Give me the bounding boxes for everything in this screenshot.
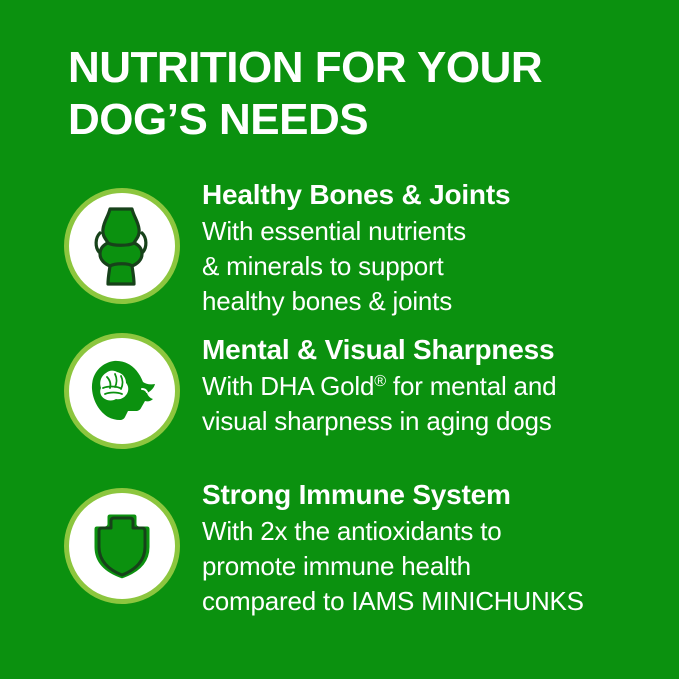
dog-head-brain-icon (64, 333, 180, 449)
page-title: NUTRITION FOR YOUR DOG’S NEEDS (68, 42, 628, 146)
feature-item-mental-visual-sharpness: Mental & Visual Sharpness With DHA Gold®… (0, 333, 679, 478)
feature-description: With essential nutrients & minerals to s… (202, 214, 679, 319)
nutrition-benefits-poster: NUTRITION FOR YOUR DOG’S NEEDS Healthy B… (0, 0, 679, 679)
feature-description: With 2x the antioxidants to promote immu… (202, 514, 679, 619)
feature-text-block: Healthy Bones & Joints With essential nu… (180, 178, 679, 319)
feature-list: Healthy Bones & Joints With essential nu… (0, 178, 679, 638)
feature-item-strong-immune-system: Strong Immune System With 2x the antioxi… (0, 478, 679, 638)
feature-heading: Healthy Bones & Joints (202, 178, 679, 211)
registered-trademark-symbol: ® (374, 372, 386, 390)
feature-item-healthy-bones-joints: Healthy Bones & Joints With essential nu… (0, 178, 679, 333)
feature-heading: Strong Immune System (202, 478, 679, 511)
feature-heading: Mental & Visual Sharpness (202, 333, 679, 366)
bone-joint-icon (64, 188, 180, 304)
feature-icon-wrapper (64, 488, 180, 604)
feature-description: With DHA Gold® for mental and visual sha… (202, 369, 679, 439)
feature-icon-wrapper (64, 333, 180, 449)
feature-description-part-1: With DHA Gold (202, 371, 374, 401)
feature-text-block: Strong Immune System With 2x the antioxi… (180, 478, 679, 619)
shield-icon (64, 488, 180, 604)
feature-text-block: Mental & Visual Sharpness With DHA Gold®… (180, 333, 679, 439)
feature-icon-wrapper (64, 188, 180, 304)
